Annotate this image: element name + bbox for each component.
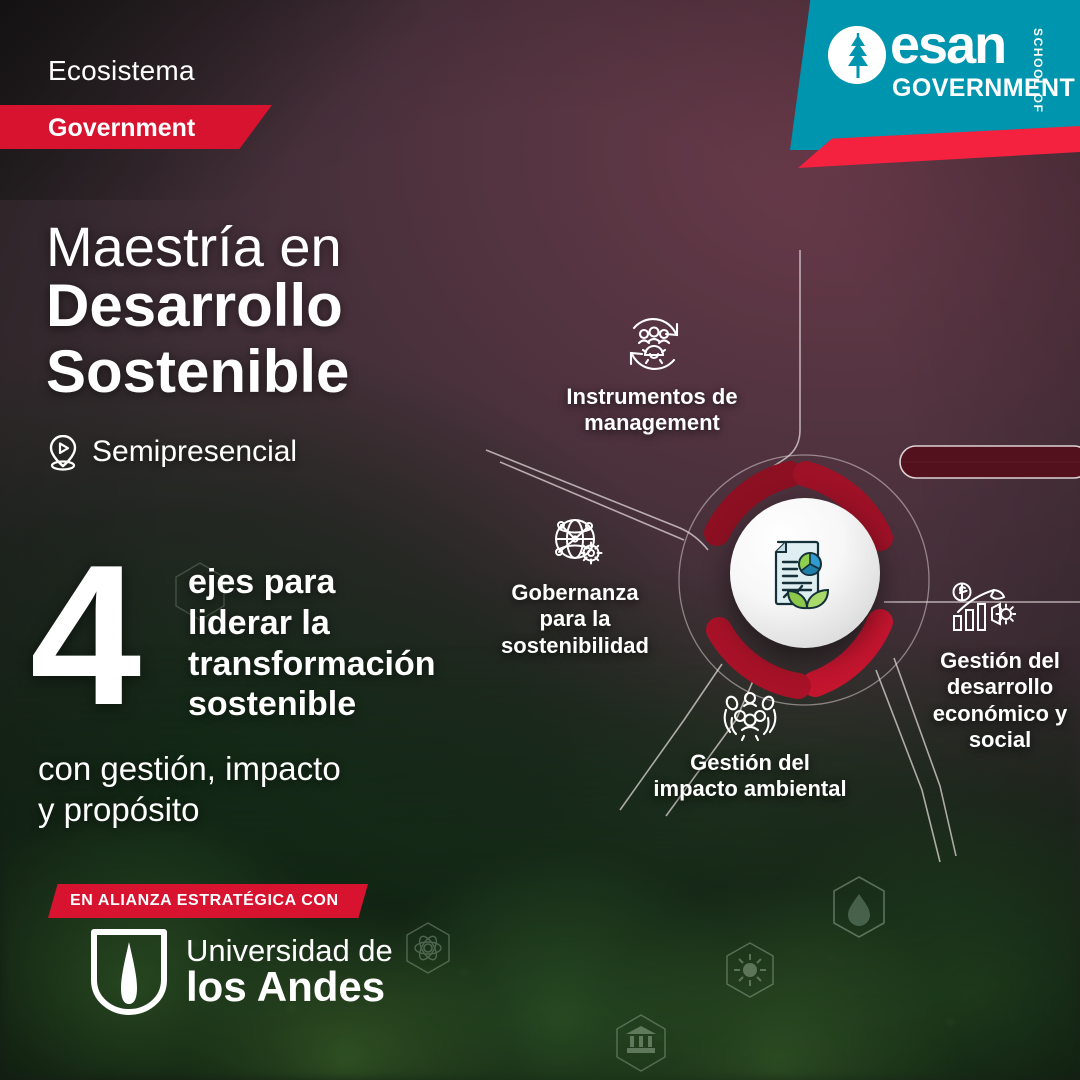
node-label-instrumentos: Instrumentos de management (512, 384, 792, 437)
modality-label: Semipresencial (92, 435, 297, 469)
poster-canvas: Ecosistema Government esan GOVERNMENT SC… (0, 0, 1080, 1080)
partner-name: Universidad de los Andes (186, 935, 393, 1009)
partner-name-line1: Universidad de (186, 935, 393, 967)
axes-diagram: Instrumentos de management Gobernanza pa… (470, 250, 1080, 890)
bank-icon (612, 1012, 670, 1078)
partner-logo: Universidad de los Andes (88, 926, 393, 1018)
pitch-headline-line: ejes para (188, 562, 436, 603)
pitch-headline-line: transformación (188, 644, 436, 685)
report-document-leaf-icon (766, 536, 844, 614)
people-gear-cycle-icon (622, 312, 686, 376)
ecosystem-banner-label: Government (48, 114, 195, 143)
pitch-subline-line: con gestión, impacto (38, 748, 341, 789)
pitch-headline: ejes para liderar la transformación sost… (188, 562, 436, 725)
ecosystem-banner: Government (0, 105, 272, 149)
program-title-line3: Sostenible (46, 340, 349, 404)
pitch-number: 4 (30, 556, 135, 716)
atom-icon (402, 920, 454, 980)
alliance-banner-label: EN ALIANZA ESTRATÉGICA CON (70, 892, 339, 910)
pitch-subline-line: y propósito (38, 789, 341, 830)
pitch-headline-line: liderar la (188, 603, 436, 644)
tree-in-circle-icon (846, 32, 870, 78)
esan-school-of-label: SCHOOL OF (1031, 28, 1045, 114)
partner-name-line2: los Andes (186, 966, 393, 1009)
node-label-impacto: Gestión del impacto ambiental (620, 750, 880, 803)
location-pin-play-icon (46, 432, 80, 472)
modality-row: Semipresencial (46, 432, 297, 472)
esan-wordmark: esan (890, 18, 1005, 72)
program-title-line2: Desarrollo (46, 274, 343, 338)
alliance-banner: EN ALIANZA ESTRATÉGICA CON (48, 884, 368, 918)
eyebrow-label: Ecosistema (48, 55, 195, 87)
uniandes-shield-icon (88, 926, 170, 1018)
dollar-growth-leaf-chart-icon (948, 580, 1016, 636)
esan-logo: esan GOVERNMENT SCHOOL OF (806, 22, 1066, 118)
pitch-subline: con gestión, impacto y propósito (38, 748, 341, 831)
program-title-line1: Maestría en (46, 218, 342, 277)
node-label-gobernanza: Gobernanza para la sostenibilidad (460, 580, 690, 659)
esan-unit-label: GOVERNMENT (892, 74, 1075, 103)
node-label-desarrollo: Gestión del desarrollo económico y socia… (900, 648, 1080, 754)
right-pill-bar (900, 446, 1080, 478)
globe-network-gear-icon (548, 512, 608, 572)
pitch-headline-line: sostenible (188, 684, 436, 725)
community-people-icon (718, 688, 782, 746)
sun-icon (722, 940, 778, 1004)
